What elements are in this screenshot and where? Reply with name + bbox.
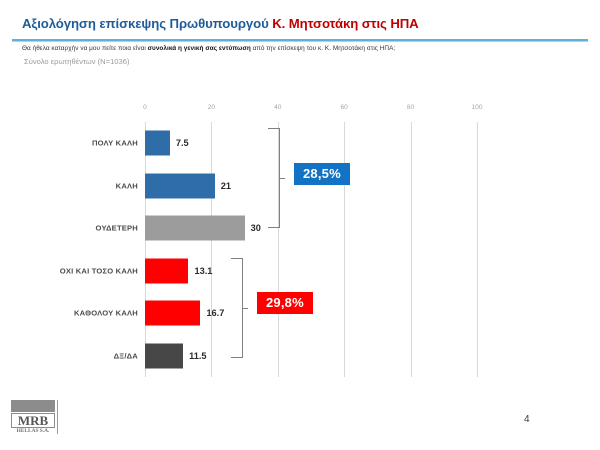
- callout-positive-label: 28,5%: [303, 166, 341, 181]
- bar[interactable]: [145, 258, 188, 283]
- bar[interactable]: [145, 173, 215, 198]
- bar-value-label: 16.7: [206, 308, 224, 318]
- page-number: 4: [524, 414, 530, 425]
- category-label: ΠΟΛΥ ΚΑΛΗ: [0, 139, 138, 148]
- bracket-positive-nub: [279, 178, 285, 179]
- bar[interactable]: [145, 343, 183, 368]
- x-axis-tick-label: 0: [143, 104, 147, 111]
- logo-rule: [57, 400, 59, 434]
- category-label: ΟΧΙ ΚΑΙ ΤΟΣΟ ΚΑΛΗ: [0, 266, 138, 275]
- survey-question-emphasis: συνολικά η γενική σας εντύπωση: [148, 45, 251, 52]
- chart-row: ΔΞ/ΔΑ11.5: [0, 335, 600, 378]
- bar[interactable]: [145, 131, 170, 156]
- callout-positive: 28,5%: [294, 163, 350, 185]
- survey-question: Θα ήθελα καταρχήν να μου πείτε ποια είνα…: [22, 45, 395, 52]
- survey-question-pre: Θα ήθελα καταρχήν να μου πείτε ποια είνα…: [22, 45, 148, 52]
- category-label: ΚΑΘΟΛΟΥ ΚΑΛΗ: [0, 309, 138, 318]
- bar-value-label: 13.1: [194, 266, 212, 276]
- bar-value-label: 7.5: [176, 138, 189, 148]
- category-label: ΟΥΔΕΤΕΡΗ: [0, 224, 138, 233]
- bar-value-label: 30: [251, 223, 261, 233]
- page-title-primary: Αξιολόγηση επίσκεψης Πρωθυπουργού: [22, 16, 272, 31]
- survey-question-post: από την επίσκεψη του κ. Κ. Μητσοτάκη στι…: [251, 45, 395, 52]
- x-axis-tick-label: 60: [341, 104, 348, 111]
- callout-negative: 29,8%: [257, 292, 313, 314]
- page-title: Αξιολόγηση επίσκεψης Πρωθυπουργού Κ. Μητ…: [22, 16, 419, 31]
- bar[interactable]: [145, 301, 200, 326]
- chart-row: ΠΟΛΥ ΚΑΛΗ7.5: [0, 122, 600, 165]
- chart-row: ΟΥΔΕΤΕΡΗ30: [0, 207, 600, 250]
- chart-row: ΟΧΙ ΚΑΙ ΤΟΣΟ ΚΑΛΗ13.1: [0, 250, 600, 293]
- category-label: ΚΑΛΗ: [0, 181, 138, 190]
- mrb-logo: MRB HELLAS S.A.: [8, 398, 60, 436]
- callout-negative-label: 29,8%: [266, 295, 304, 310]
- x-axis-tick-label: 40: [274, 104, 281, 111]
- bar[interactable]: [145, 216, 245, 241]
- page-title-highlight: Κ. Μητσοτάκη στις ΗΠΑ: [272, 16, 418, 31]
- x-axis-tick-label: 20: [208, 104, 215, 111]
- logo-top-block: [11, 400, 55, 412]
- x-axis-tick-label: 100: [471, 104, 482, 111]
- title-divider: [12, 39, 588, 41]
- bar-chart: 020406080100 ΠΟΛΥ ΚΑΛΗ7.5ΚΑΛΗ21ΟΥΔΕΤΕΡΗ3…: [0, 100, 600, 385]
- bar-value-label: 21: [221, 181, 231, 191]
- logo-subtitle: HELLAS S.A.: [11, 428, 55, 434]
- bracket-positive: [268, 128, 280, 228]
- bracket-negative: [231, 258, 243, 358]
- bracket-negative-nub: [242, 308, 248, 309]
- category-label: ΔΞ/ΔΑ: [0, 351, 138, 360]
- sample-size-label: Σύνολο ερωτηθέντων (Ν=1036): [24, 57, 130, 66]
- x-axis-tick-label: 80: [407, 104, 414, 111]
- logo-wordmark: MRB: [11, 413, 55, 428]
- bar-value-label: 11.5: [189, 351, 206, 361]
- chart-rows: ΠΟΛΥ ΚΑΛΗ7.5ΚΑΛΗ21ΟΥΔΕΤΕΡΗ30ΟΧΙ ΚΑΙ ΤΟΣΟ…: [0, 122, 600, 377]
